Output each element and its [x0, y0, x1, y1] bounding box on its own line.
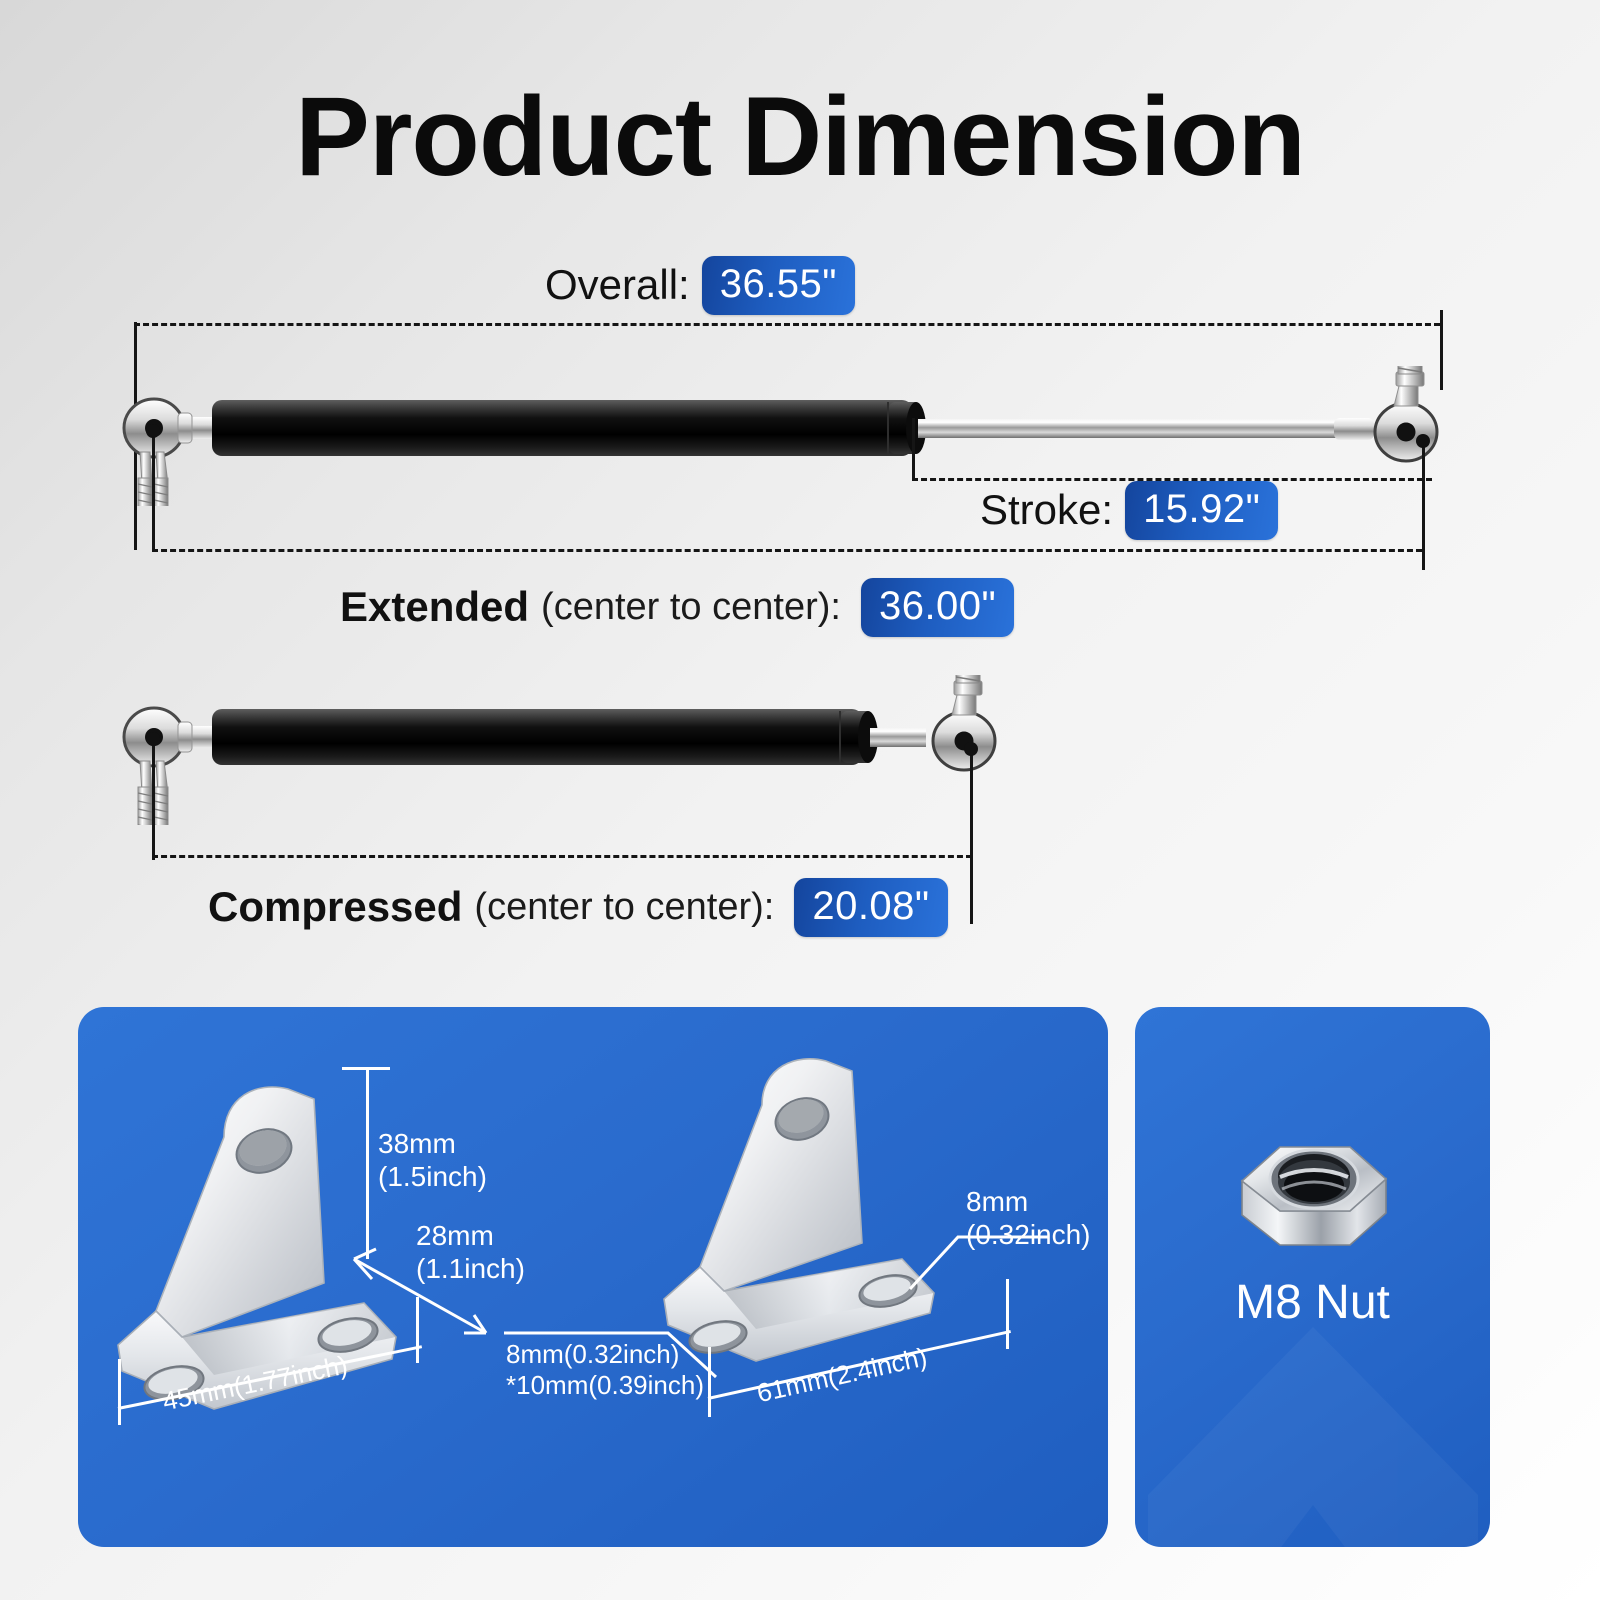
right-bracket-hole-text: 8mm (0.32inch) — [966, 1185, 1091, 1251]
right-bracket-hole-left-text: 8mm(0.32inch) *10mm(0.39inch) — [506, 1339, 704, 1400]
extended-value-badge: 36.00" — [861, 578, 1014, 637]
m8-nut-label: M8 Nut — [1135, 1275, 1490, 1330]
extended-extension-left — [152, 430, 155, 552]
right-bracket-hole-left-line1: 8mm(0.32inch) — [506, 1339, 704, 1370]
right-bracket-length-tick-right — [1006, 1279, 1009, 1349]
hex-nut-icon — [1230, 1119, 1398, 1271]
gas-strut-compressed — [118, 675, 1018, 825]
compressed-value-badge: 20.08" — [794, 878, 947, 937]
right-bracket-hole-left-line2: *10mm(0.39inch) — [506, 1370, 704, 1401]
compressed-extension-right — [970, 748, 973, 924]
left-bracket-height-tick-top — [342, 1067, 390, 1070]
compressed-label: Compressed — [208, 883, 462, 931]
extended-note: (center to center): — [541, 586, 841, 629]
right-bracket-length-tick-left — [708, 1347, 711, 1417]
extended-measurement: Extended (center to center): 36.00" — [340, 578, 1014, 637]
compressed-extension-left — [152, 738, 155, 860]
extended-extension-right — [1422, 440, 1425, 570]
overall-label: Overall: — [545, 261, 690, 309]
overall-value-badge: 36.55" — [702, 256, 855, 315]
extended-center-dot-left — [146, 424, 160, 438]
compressed-measurement: Compressed (center to center): 20.08" — [208, 878, 948, 937]
compressed-center-dot-left — [146, 732, 160, 746]
left-bracket-length-tick-right — [416, 1297, 419, 1363]
compressed-center-dot-right — [964, 742, 978, 756]
compressed-dimension-line — [152, 855, 972, 858]
compressed-note: (center to center): — [474, 886, 774, 929]
left-bracket-depth-inch: (1.1inch) — [416, 1252, 525, 1285]
end-fitting-right-compressed — [933, 675, 995, 770]
left-bracket-depth-mm: 28mm — [416, 1219, 525, 1252]
right-bracket-hole-inch: (0.32inch) — [966, 1218, 1091, 1251]
stroke-label: Stroke: — [980, 486, 1113, 534]
left-bracket-length-tick-left — [118, 1359, 121, 1425]
m8-nut-panel: M8 Nut — [1135, 1007, 1490, 1547]
extended-label: Extended — [340, 583, 529, 631]
extended-center-dot-right — [1416, 434, 1430, 448]
left-bracket-depth-text: 28mm (1.1inch) — [416, 1219, 525, 1285]
stroke-extension-left — [912, 418, 915, 480]
product-dimension-infographic: Product Dimension Overall: 36.55" — [0, 0, 1600, 1600]
brackets-panel: 38mm (1.5inch) 28mm (1.1inch) 45mm(1.77i… — [78, 1007, 1108, 1547]
overall-measurement: Overall: 36.55" — [545, 256, 855, 315]
stroke-measurement: Stroke: 15.92" — [980, 481, 1278, 540]
stroke-value-badge: 15.92" — [1125, 481, 1278, 540]
left-bracket-height-inch: (1.5inch) — [378, 1160, 487, 1193]
left-bracket-height-mm: 38mm — [378, 1127, 487, 1160]
right-bracket-hole-mm: 8mm — [966, 1185, 1091, 1218]
brand-chevron-watermark — [1148, 1317, 1478, 1547]
extended-dimension-line — [152, 549, 1422, 552]
left-bracket-height-line — [366, 1067, 369, 1259]
left-bracket-height-text: 38mm (1.5inch) — [378, 1127, 487, 1193]
overall-dimension-line — [134, 323, 1440, 326]
page-title: Product Dimension — [0, 72, 1600, 201]
